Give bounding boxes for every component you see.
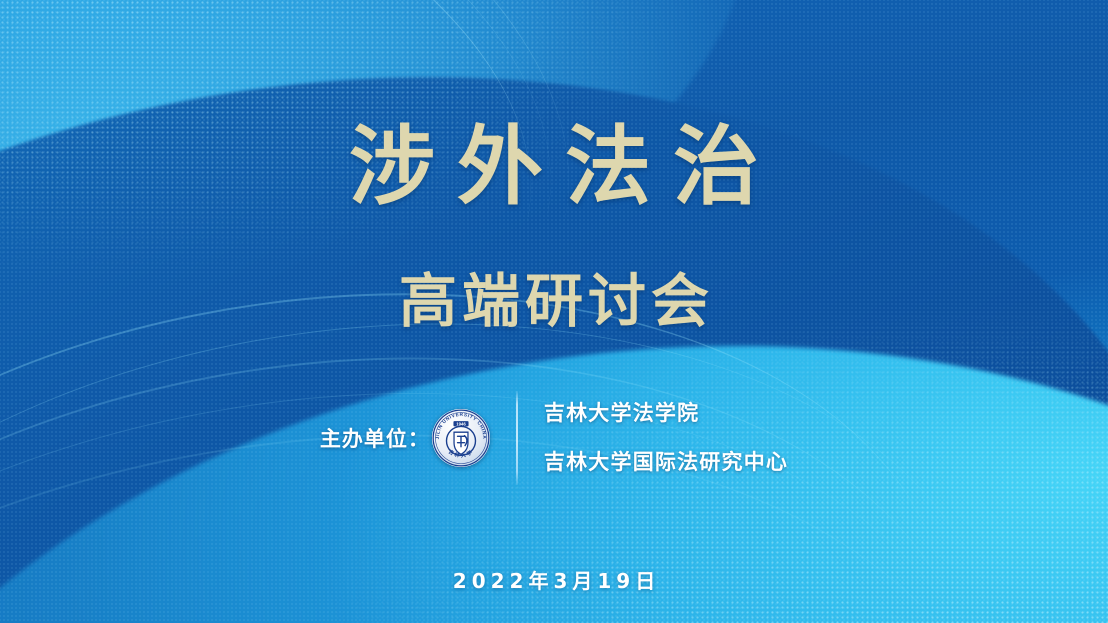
organizer-name: 吉林大学国际法研究中心 — [544, 452, 788, 473]
page-title: 涉外法治 — [0, 124, 1108, 210]
organizer-name: 吉林大学法学院 — [544, 403, 788, 424]
jilin-university-seal-icon: JILIN UNIVERSITY CHINA 1946 吉林大学 — [432, 409, 490, 467]
presentation-title-slide: 涉外法治 高端研讨会 主办单位： JILIN UNIVERSITY CHINA — [0, 0, 1108, 623]
organizer-divider — [516, 391, 518, 485]
page-subtitle: 高端研讨会 — [0, 272, 1108, 330]
organizer-label: 主办单位： — [320, 423, 430, 453]
organizer-name-list: 吉林大学法学院 吉林大学国际法研究中心 — [544, 403, 788, 473]
event-date: 2022年3月19日 — [0, 565, 1108, 594]
organizer-section: 主办单位： JILIN UNIVERSITY CHINA — [0, 388, 1108, 488]
slide-content: 涉外法治 高端研讨会 主办单位： JILIN UNIVERSITY CHINA — [0, 0, 1108, 623]
